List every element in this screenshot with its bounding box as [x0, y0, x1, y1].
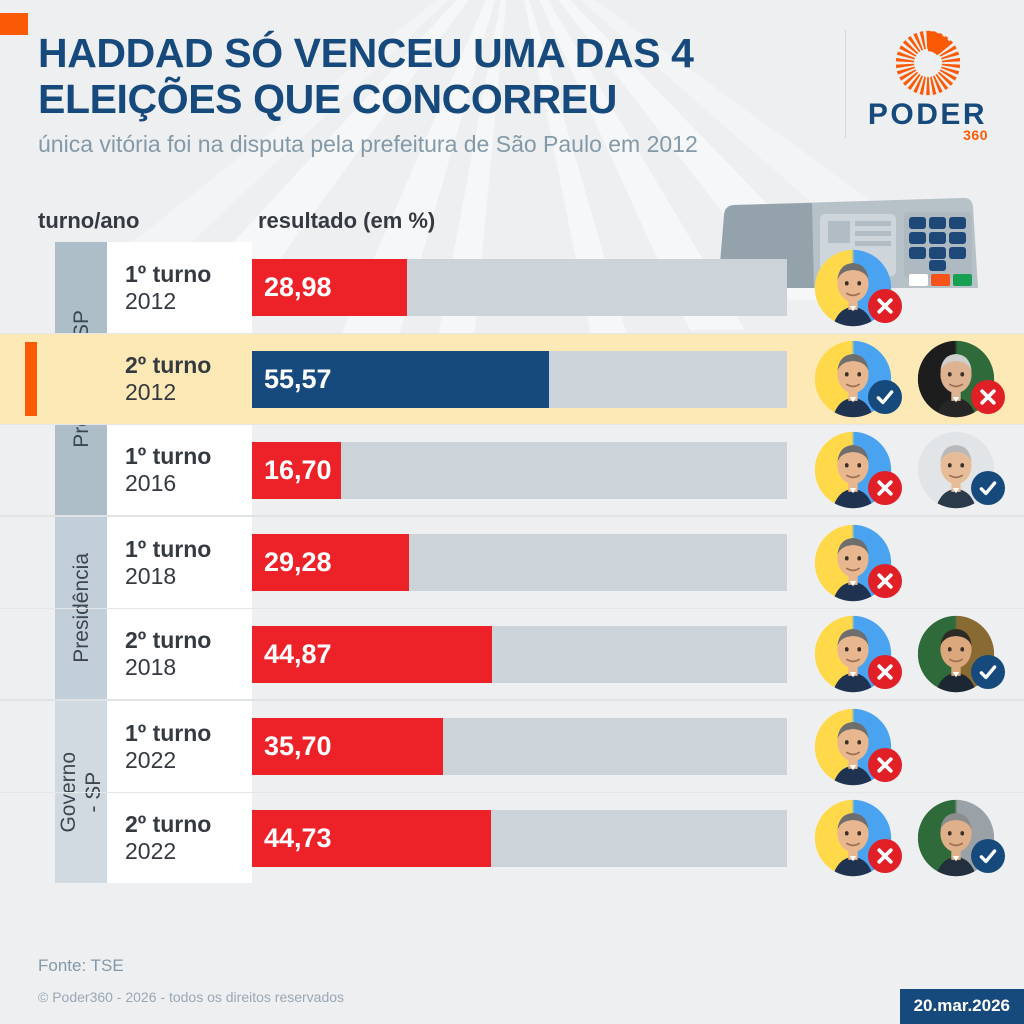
- x-icon: [875, 662, 895, 682]
- result-badge-win: [971, 839, 1005, 873]
- logo-wordmark: PODER: [865, 100, 990, 130]
- bar-cell: 44,73: [252, 793, 814, 883]
- header: HADDAD SÓ VENCEU UMA DAS 4 ELEIÇÕES QUE …: [0, 0, 1024, 160]
- ano-label: 2016: [125, 470, 252, 497]
- bar-value-label: 28,98: [252, 272, 332, 303]
- column-headers: turno/ano resultado (em %): [0, 188, 1024, 242]
- candidate-haddad[interactable]: [814, 431, 892, 509]
- candidate-haddad[interactable]: [814, 524, 892, 602]
- candidate-haddad[interactable]: [814, 799, 892, 877]
- ano-label: 2018: [125, 654, 252, 681]
- turno-cell: 2º turno 2012: [107, 334, 252, 424]
- bar-track: 28,98: [252, 259, 787, 316]
- candidate-tarcisio[interactable]: [917, 799, 995, 877]
- bar-value-label: 44,73: [252, 823, 332, 854]
- highlight-accent-marker: [25, 342, 37, 416]
- candidates-cell: [814, 701, 1024, 792]
- candidates-cell: [814, 334, 1024, 424]
- logo-divider: [845, 30, 846, 138]
- bar-track: 35,70: [252, 718, 787, 775]
- bar-value-label: 29,28: [252, 547, 332, 578]
- bar-cell: 16,70: [252, 425, 814, 515]
- result-badge-win: [868, 380, 902, 414]
- turno-cell: 1º turno 2012: [107, 242, 252, 333]
- x-icon: [875, 755, 895, 775]
- candidates-cell: [814, 609, 1024, 699]
- bar-track: 44,87: [252, 626, 787, 683]
- table-row: 2º turno 2022 44,73: [0, 792, 1024, 883]
- bar-cell: 29,28: [252, 517, 814, 608]
- bar-track: 29,28: [252, 534, 787, 591]
- candidates-cell: [814, 242, 1024, 333]
- bar-cell: 55,57: [252, 334, 814, 424]
- table-row: 1º turno 2022 35,70: [0, 701, 1024, 792]
- candidate-bolsonaro[interactable]: [917, 615, 995, 693]
- footer: Fonte: TSE © Poder360 - 2026 - todos os …: [0, 942, 1024, 1024]
- turno-label: 1º turno: [125, 261, 252, 288]
- title-accent-marker: [0, 13, 28, 35]
- x-icon: [978, 387, 998, 407]
- bar-track: 55,57: [252, 351, 787, 408]
- turno-label: 1º turno: [125, 720, 252, 747]
- copyright-note: © Poder360 - 2026 - todos os direitos re…: [38, 989, 344, 1005]
- result-badge-lose: [868, 748, 902, 782]
- result-badge-lose: [868, 471, 902, 505]
- table-row: 2º turno 2012 55,57: [0, 333, 1024, 424]
- turno-label: 1º turno: [125, 443, 252, 470]
- x-icon: [875, 478, 895, 498]
- row-group: Governo - SP 1º turno 2022 35,70: [0, 699, 1024, 883]
- row-group: Presidência 1º turno 2018 29,28: [0, 515, 1024, 699]
- ano-label: 2012: [125, 379, 252, 406]
- candidates-cell: [814, 793, 1024, 883]
- date-badge: 20.mar.2026: [900, 989, 1024, 1024]
- check-icon: [978, 662, 998, 682]
- bar-fill: 28,98: [252, 259, 407, 316]
- candidate-haddad[interactable]: [814, 249, 892, 327]
- result-badge-lose: [868, 289, 902, 323]
- bar-fill: 44,73: [252, 810, 491, 867]
- row-group: Prefeitura - SP 1º turno 2012 28,98: [0, 242, 1024, 515]
- bar-fill: 29,28: [252, 534, 409, 591]
- poder360-logo[interactable]: PODER 360: [865, 28, 990, 143]
- bar-value-label: 55,57: [252, 364, 332, 395]
- turno-label: 2º turno: [125, 627, 252, 654]
- bar-cell: 28,98: [252, 242, 814, 333]
- turno-cell: 1º turno 2022: [107, 701, 252, 792]
- x-icon: [875, 296, 895, 316]
- column-header-resultado: resultado (em %): [258, 208, 435, 234]
- page-subtitle: única vitória foi na disputa pela prefei…: [38, 129, 798, 160]
- candidate-doria[interactable]: [917, 431, 995, 509]
- bar-fill: 44,87: [252, 626, 492, 683]
- bar-track: 44,73: [252, 810, 787, 867]
- bar-value-label: 44,87: [252, 639, 332, 670]
- check-icon: [978, 846, 998, 866]
- result-badge-win: [971, 655, 1005, 689]
- x-icon: [875, 846, 895, 866]
- result-badge-lose: [971, 380, 1005, 414]
- ano-label: 2022: [125, 747, 252, 774]
- candidates-cell: [814, 517, 1024, 608]
- turno-cell: 1º turno 2016: [107, 425, 252, 515]
- turno-cell: 1º turno 2018: [107, 517, 252, 608]
- candidates-cell: [814, 425, 1024, 515]
- bar-fill: 35,70: [252, 718, 443, 775]
- candidate-serra[interactable]: [917, 340, 995, 418]
- turno-cell: 2º turno 2018: [107, 609, 252, 699]
- candidate-haddad[interactable]: [814, 708, 892, 786]
- ano-label: 2018: [125, 563, 252, 590]
- bar-value-label: 16,70: [252, 455, 332, 486]
- candidate-haddad[interactable]: [814, 615, 892, 693]
- bar-cell: 44,87: [252, 609, 814, 699]
- bar-fill: 16,70: [252, 442, 341, 499]
- result-badge-lose: [868, 564, 902, 598]
- bar-fill: 55,57: [252, 351, 549, 408]
- candidate-haddad[interactable]: [814, 340, 892, 418]
- bar-cell: 35,70: [252, 701, 814, 792]
- check-icon: [978, 478, 998, 498]
- table-row: 1º turno 2012 28,98: [0, 242, 1024, 333]
- turno-label: 1º turno: [125, 536, 252, 563]
- turno-label: 2º turno: [125, 811, 252, 838]
- ano-label: 2012: [125, 288, 252, 315]
- sunburst-icon: [893, 28, 963, 98]
- x-icon: [875, 571, 895, 591]
- result-badge-lose: [868, 655, 902, 689]
- table-row: 2º turno 2018 44,87: [0, 608, 1024, 699]
- table-row: 1º turno 2018 29,28: [0, 517, 1024, 608]
- source-note: Fonte: TSE: [38, 956, 124, 976]
- ano-label: 2022: [125, 838, 252, 865]
- turno-label: 2º turno: [125, 352, 252, 379]
- result-badge-lose: [868, 839, 902, 873]
- page-title: HADDAD SÓ VENCEU UMA DAS 4 ELEIÇÕES QUE …: [38, 30, 778, 122]
- column-header-turno: turno/ano: [38, 208, 139, 234]
- turno-cell: 2º turno 2022: [107, 793, 252, 883]
- results-table: Prefeitura - SP 1º turno 2012 28,98: [0, 242, 1024, 883]
- result-badge-win: [971, 471, 1005, 505]
- bar-value-label: 35,70: [252, 731, 332, 762]
- bar-track: 16,70: [252, 442, 787, 499]
- table-row: 1º turno 2016 16,70: [0, 424, 1024, 515]
- check-icon: [875, 387, 895, 407]
